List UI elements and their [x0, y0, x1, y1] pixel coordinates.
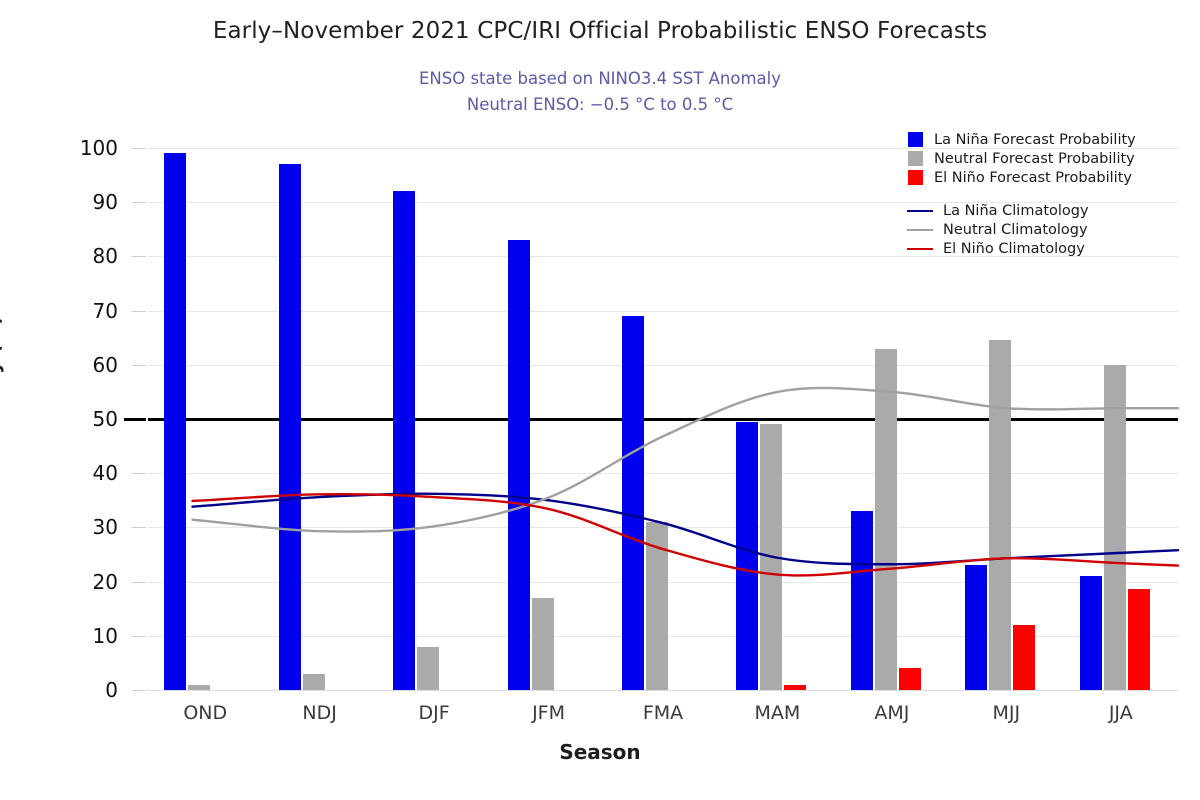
y-tick-label: 50	[58, 407, 118, 431]
legend-swatch-icon	[908, 170, 923, 185]
gridline	[148, 690, 1178, 691]
x-tick-label: MAM	[755, 702, 801, 724]
legend-item[interactable]: Neutral Forecast Probability	[908, 149, 1193, 168]
x-tick-label: AMJ	[874, 702, 909, 724]
legend-swatch-icon	[908, 132, 923, 147]
legend-line-icon	[907, 210, 933, 212]
legend: La Niña Forecast ProbabilityNeutral Fore…	[908, 130, 1193, 258]
y-tick-label: 70	[58, 299, 118, 323]
chart-subtitle-line2: Neutral ENSO: −0.5 °C to 0.5 °C	[0, 95, 1200, 114]
legend-item[interactable]: La Niña Climatology	[908, 201, 1193, 220]
chart-subtitle-line1: ENSO state based on NINO3.4 SST Anomaly	[0, 69, 1200, 88]
legend-item[interactable]: El Niño Forecast Probability	[908, 168, 1193, 187]
legend-line-icon	[907, 229, 933, 231]
climatology-line	[192, 388, 1178, 532]
y-tick-label: 0	[58, 678, 118, 702]
legend-label: La Niña Climatology	[943, 203, 1089, 219]
y-tickmark	[132, 365, 146, 366]
y-tick-label: 20	[58, 570, 118, 594]
y-tickmark	[132, 636, 146, 637]
chart-title: Early–November 2021 CPC/IRI Official Pro…	[0, 18, 1200, 44]
legend-swatch-icon	[908, 151, 923, 166]
x-axis-title: Season	[0, 740, 1200, 764]
climatology-line	[192, 494, 1178, 575]
y-tick-label: 60	[58, 353, 118, 377]
y-tick-label: 80	[58, 244, 118, 268]
x-tick-label: JFM	[532, 702, 565, 724]
y-tickmark	[132, 582, 146, 583]
climatology-line	[192, 494, 1178, 565]
legend-label: El Niño Climatology	[943, 241, 1085, 257]
y-tickmark	[132, 473, 146, 474]
y-tickmark	[132, 311, 146, 312]
x-tick-label: OND	[183, 702, 227, 724]
x-tick-label: JJA	[1109, 702, 1133, 724]
y-tick-label: 30	[58, 515, 118, 539]
x-tick-label: NDJ	[302, 702, 336, 724]
y-tick-label: 100	[58, 136, 118, 160]
y-tickmark	[132, 148, 146, 149]
y-tickmark	[132, 202, 146, 203]
y-axis-title: Probability (%)	[0, 316, 4, 485]
y-tickmark	[132, 690, 146, 691]
legend-label: Neutral Climatology	[943, 222, 1088, 238]
legend-label: Neutral Forecast Probability	[934, 151, 1135, 167]
legend-item[interactable]: La Niña Forecast Probability	[908, 130, 1193, 149]
legend-item[interactable]: El Niño Climatology	[908, 239, 1193, 258]
x-tick-label: DJF	[419, 702, 450, 724]
chart-root: Early–November 2021 CPC/IRI Official Pro…	[0, 0, 1200, 800]
legend-divider	[908, 187, 1193, 201]
legend-item[interactable]: Neutral Climatology	[908, 220, 1193, 239]
legend-label: La Niña Forecast Probability	[934, 132, 1136, 148]
legend-label: El Niño Forecast Probability	[934, 170, 1132, 186]
x-tick-label: FMA	[643, 702, 683, 724]
y-tick-label: 40	[58, 461, 118, 485]
x-tick-label: MJJ	[993, 702, 1021, 724]
y-tick-label: 10	[58, 624, 118, 648]
y-tickmark	[132, 527, 146, 528]
y-tick-label: 90	[58, 190, 118, 214]
y-tickmark	[124, 418, 146, 421]
legend-line-icon	[907, 248, 933, 250]
y-tickmark	[132, 256, 146, 257]
